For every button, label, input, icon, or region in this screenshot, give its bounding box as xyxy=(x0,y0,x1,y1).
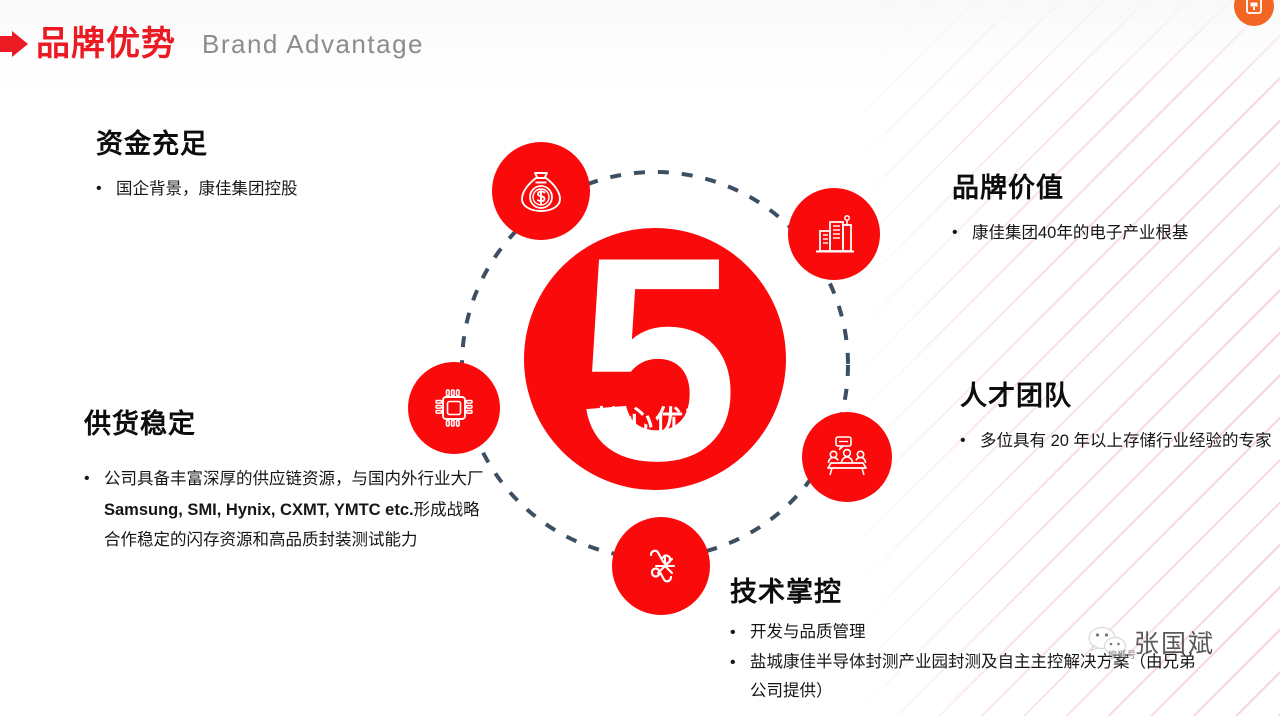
block-supply-bullets: • 公司具备丰富深厚的供应链资源，与国内外行业大厂 Samsung, SMI, … xyxy=(84,464,484,556)
block-talent-heading: 人才团队 xyxy=(960,380,1280,412)
block-supply-heading: 供货稳定 xyxy=(84,408,484,440)
list-item: • 国企背景，康佳集团控股 xyxy=(96,174,298,205)
team-meeting-icon-bubble[interactable] xyxy=(802,412,892,502)
bullet-text: 国企背景，康佳集团控股 xyxy=(116,174,298,205)
bullet-marker: • xyxy=(84,464,104,494)
bullet-text: 开发与品质管理 xyxy=(750,618,1200,647)
bullet-marker: • xyxy=(952,218,972,248)
bullet-marker: • xyxy=(960,426,980,456)
block-tech: 技术掌控 • 开发与品质管理 • 盐城康佳半导体封测产业园封测及自主主控解决方案… xyxy=(730,576,1200,706)
bullet-text: 公司具备丰富深厚的供应链资源，与国内外行业大厂 Samsung, SMI, Hy… xyxy=(104,464,484,556)
block-funds-heading: 资金充足 xyxy=(96,128,298,160)
block-brand-bullets: • 康佳集团40年的电子产业根基 xyxy=(952,218,1280,249)
red-arrow-icon xyxy=(0,31,28,57)
list-item: • 盐城康佳半导体封测产业园封测及自主主控解决方案（由兄弟公司提供） xyxy=(730,648,1200,706)
bullet-text: 多位具有 20 年以上存储行业经验的专家 xyxy=(980,426,1280,457)
technology-node-icon-bubble[interactable] xyxy=(612,517,710,615)
block-brand: 品牌价值 • 康佳集团40年的电子产业根基 xyxy=(952,172,1280,251)
orange-logo-badge-icon xyxy=(1234,0,1274,26)
block-funds: 资金充足 • 国企背景，康佳集团控股 xyxy=(96,128,298,207)
money-bag-icon xyxy=(514,164,568,218)
block-talent: 人才团队 • 多位具有 20 年以上存储行业经验的专家 xyxy=(960,380,1280,459)
block-supply: 供货稳定 • 公司具备丰富深厚的供应链资源，与国内外行业大厂 Samsung, … xyxy=(84,408,484,558)
block-tech-heading: 技术掌控 xyxy=(730,576,1200,608)
core-advantage-label: 核心优势 xyxy=(524,290,786,552)
bullet-text: 盐城康佳半导体封测产业园封测及自主主控解决方案（由兄弟公司提供） xyxy=(750,648,1200,706)
bullet-text-pre: 公司具备丰富深厚的供应链资源，与国内外行业大厂 xyxy=(104,470,500,488)
block-tech-bullets: • 开发与品质管理 • 盐城康佳半导体封测产业园封测及自主主控解决方案（由兄弟公… xyxy=(730,618,1200,705)
bullet-text: 康佳集团40年的电子产业根基 xyxy=(972,218,1280,249)
block-brand-heading: 品牌价值 xyxy=(952,172,1280,204)
technology-node-icon xyxy=(634,539,688,593)
list-item: • 多位具有 20 年以上存储行业经验的专家 xyxy=(960,426,1280,457)
office-building-icon xyxy=(808,208,860,260)
list-item: • 开发与品质管理 xyxy=(730,618,1200,648)
block-talent-bullets: • 多位具有 20 年以上存储行业经验的专家 xyxy=(960,426,1280,457)
bullet-marker: • xyxy=(96,174,116,204)
slide-canvas: 品牌优势 Brand Advantage 5 核心优势 xyxy=(0,0,1280,716)
list-item: • 公司具备丰富深厚的供应链资源，与国内外行业大厂 Samsung, SMI, … xyxy=(84,464,484,556)
page-title-cn: 品牌优势 xyxy=(36,27,176,61)
list-item: • 康佳集团40年的电子产业根基 xyxy=(952,218,1280,249)
page-title-en: Brand Advantage xyxy=(202,29,424,60)
bullet-text-bold: Samsung, SMI, Hynix, CXMT, YMTC etc. xyxy=(104,501,414,519)
bullet-marker: • xyxy=(730,618,750,648)
bullet-marker: • xyxy=(730,648,750,678)
team-meeting-icon xyxy=(820,430,874,484)
money-bag-icon-bubble[interactable] xyxy=(492,142,590,240)
slide-header: 品牌优势 Brand Advantage xyxy=(0,14,424,74)
block-funds-bullets: • 国企背景，康佳集团控股 xyxy=(96,174,298,205)
office-building-icon-bubble[interactable] xyxy=(788,188,880,280)
